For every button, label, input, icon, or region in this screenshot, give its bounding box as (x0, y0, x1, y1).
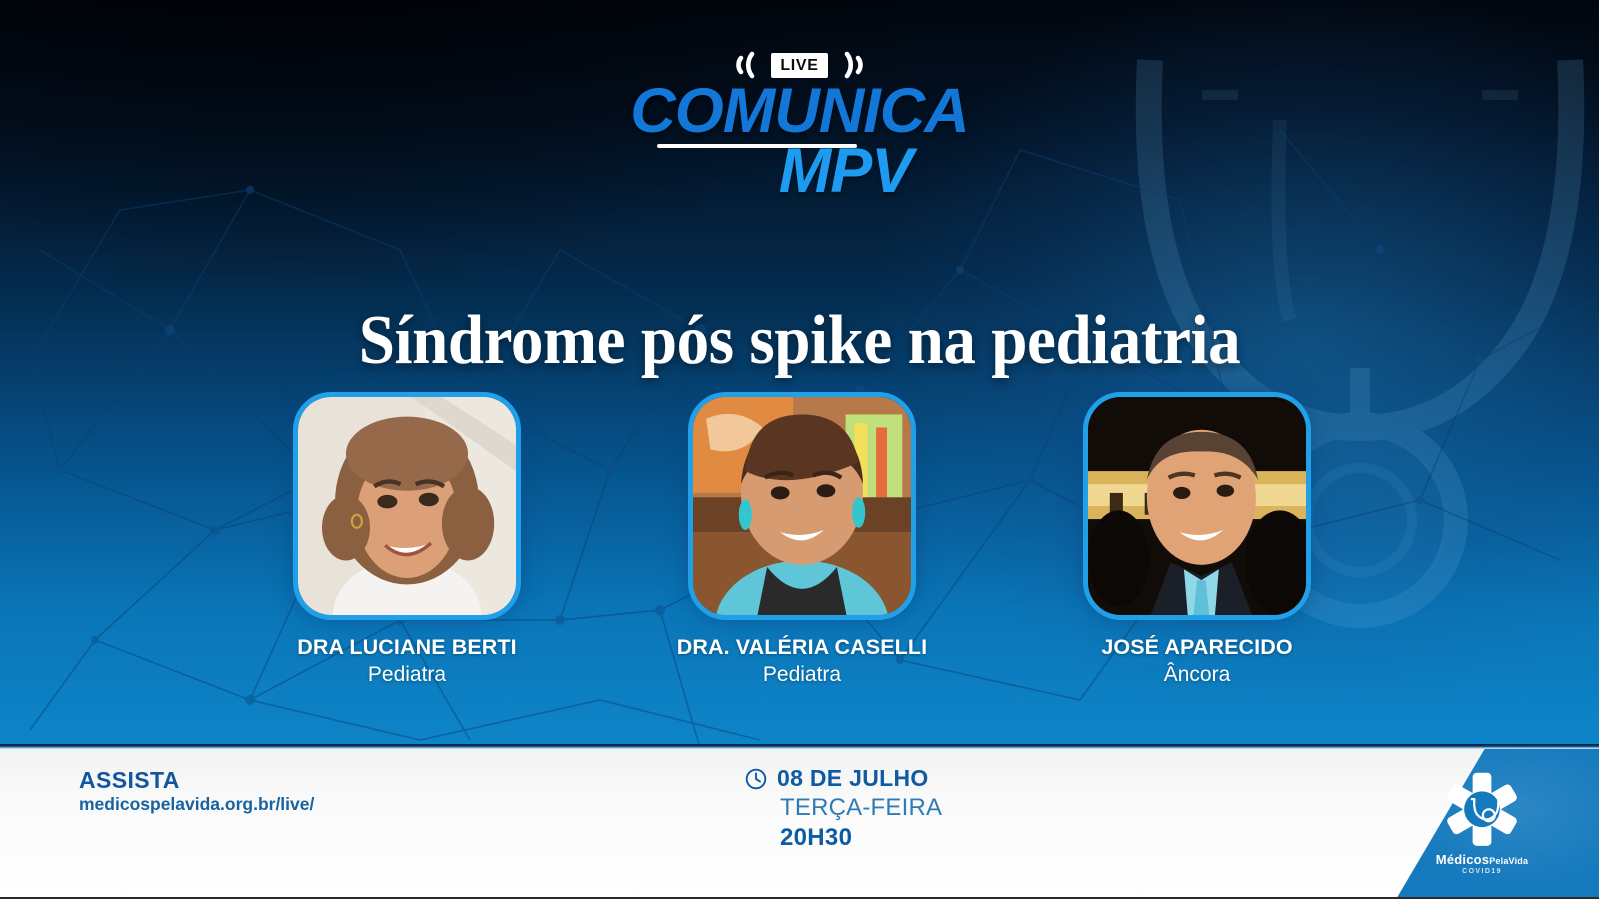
event-weekday: TERÇA-FEIRA (780, 794, 942, 822)
speaker-photo-luciane-berti (293, 392, 521, 620)
speaker-role: Âncora (1164, 663, 1231, 687)
speaker-photo-jose-aparecido (1083, 392, 1311, 620)
brand-wordmark: MédicosPelaVida (1436, 853, 1528, 866)
event-date: 08 DE JULHO (777, 765, 929, 792)
brand-subtitle: COVID19 (1462, 868, 1502, 875)
footer-bar: ASSISTA medicospelavida.org.br/live/ 08 … (0, 749, 1599, 899)
comunica-mpv-logo: LIVE COMUNICA MPV (0, 48, 1599, 202)
watch-label: ASSISTA (79, 767, 314, 794)
watch-info: ASSISTA medicospelavida.org.br/live/ (79, 767, 314, 815)
speaker-name: DRA. VALÉRIA CASELLI (677, 635, 927, 660)
medicos-pela-vida-logo: MédicosPelaVida COVID19 (1407, 771, 1557, 875)
brand-word-m: Médicos (1436, 852, 1489, 867)
watch-url-link[interactable]: medicospelavida.org.br/live/ (79, 794, 314, 814)
live-badge-label: LIVE (771, 53, 827, 78)
speakers-row: DRA LUCIANE BERTI Pediatra (262, 392, 1342, 687)
speaker-role: Pediatra (368, 663, 446, 687)
speaker-photo-valeria-caselli (688, 392, 916, 620)
brand-word-p: Pela (1489, 856, 1508, 866)
brand-word-v: Vida (1509, 856, 1529, 866)
logo-mpv-text: MPV (779, 142, 913, 202)
speaker-card: DRA LUCIANE BERTI Pediatra (262, 392, 552, 687)
live-announcement-poster: LIVE COMUNICA MPV Síndrome pós spike na … (0, 0, 1599, 899)
speaker-card: DRA. VALÉRIA CASELLI Pediatra (657, 392, 947, 687)
speaker-name: JOSÉ APARECIDO (1101, 635, 1292, 660)
logo-comunica-text: COMUNICA (630, 83, 968, 141)
speaker-card: JOSÉ APARECIDO Âncora (1052, 392, 1342, 687)
event-datetime: 08 DE JULHO TERÇA-FEIRA 20H30 (744, 765, 942, 852)
clock-icon (744, 767, 768, 791)
speaker-role: Pediatra (763, 663, 841, 687)
event-time: 20H30 (780, 824, 942, 852)
speaker-name: DRA LUCIANE BERTI (297, 635, 516, 660)
page-title: Síndrome pós spike na pediatria (56, 305, 1543, 378)
event-date-row: 08 DE JULHO (744, 765, 942, 792)
star-of-life-stethoscope-icon (1439, 771, 1525, 851)
